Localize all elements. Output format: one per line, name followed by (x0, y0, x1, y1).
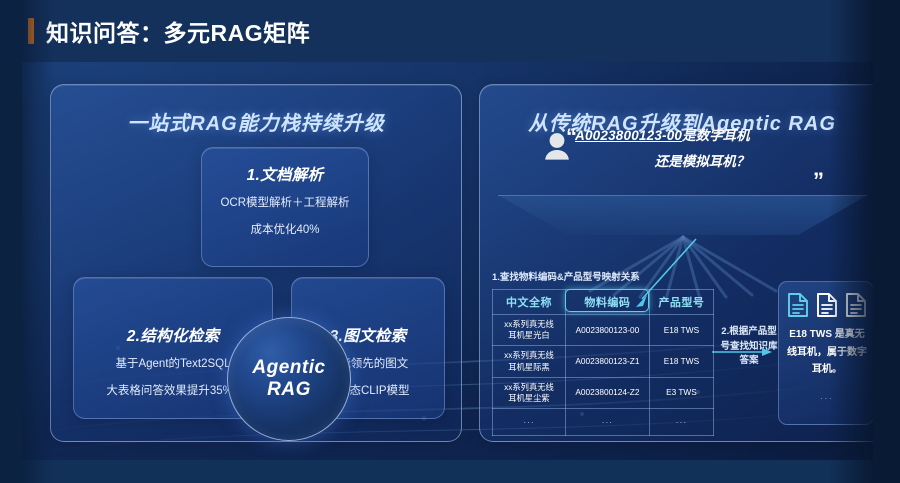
table-row: xx系列真无线耳机星光白A0023800123-00E18 TWS (493, 315, 714, 346)
agentic-rag-line2: RAG (267, 379, 311, 401)
user-question-text: A0023800123-00是数字耳机 还是模拟耳机？ (575, 123, 865, 174)
table-cell: A0023800124-Z2 (565, 377, 649, 408)
table-cell: xx系列真无线耳机星光白 (493, 315, 566, 346)
left-panel-heading: 一站式RAG能力栈持续升级 (51, 107, 461, 136)
table-cell: A0023800123-Z1 (565, 346, 649, 377)
table-cell: A0023800123-00 (565, 315, 649, 346)
table-header-product-model: 产品型号 (649, 290, 713, 315)
document-icon (816, 292, 838, 318)
table-header-chinese-name: 中文全称 (493, 290, 566, 315)
right-panel-card: 从传统RAG升级到Agentic RAG “ A0023800123-00是数字… (479, 84, 873, 442)
table-header-row: 中文全称 物料编码 产品型号 (493, 290, 714, 315)
step1-label: 1.查找物料编码&产品型号映射关系 (492, 271, 640, 286)
table-cell: E18 TWS (649, 346, 713, 377)
table-cell: xx系列真无线耳机星尘紫 (493, 377, 566, 408)
table-cell: ··· (493, 409, 566, 436)
answer-ellipsis: ··· (779, 394, 873, 403)
question-line1-rest: 是数字耳机 (682, 128, 750, 143)
table-row: ········· (493, 409, 714, 436)
document-icon (845, 292, 867, 318)
table-body: xx系列真无线耳机星光白A0023800123-00E18 TWSxx系列真无线… (493, 315, 714, 436)
table-cell: ··· (565, 409, 649, 436)
slide-root: 知识问答：多元RAG矩阵 一站式RAG能力栈持续升级 (0, 0, 900, 483)
agentic-rag-badge: Agentic RAG (227, 317, 351, 441)
document-icons-group (787, 292, 867, 318)
table-cell: xx系列真无线耳机星际黑 (493, 346, 566, 377)
card-subtitle-line2: 成本优化40% (202, 221, 368, 239)
table-header-material-code: 物料编码 (565, 290, 649, 315)
slide-stage: 一站式RAG能力栈持续升级 1.文档解析 OCR模型解析＋工程解析 成本优化40… (22, 62, 873, 460)
knowledge-answer-card[interactable]: E18 TWS 是真无线耳机，属于数字耳机。 ··· (778, 281, 873, 425)
material-mapping-table: 中文全称 物料编码 产品型号 xx系列真无线耳机星光白A0023800123-0… (492, 289, 714, 436)
left-panel-card: 一站式RAG能力栈持续升级 1.文档解析 OCR模型解析＋工程解析 成本优化40… (50, 84, 462, 442)
slide-header: 知识问答：多元RAG矩阵 (0, 0, 900, 62)
card-document-parsing[interactable]: 1.文档解析 OCR模型解析＋工程解析 成本优化40% (201, 147, 369, 267)
question-line-1: A0023800123-00是数字耳机 (575, 123, 865, 149)
card-title: 1.文档解析 (202, 163, 368, 185)
perspective-platform-decoration (498, 195, 868, 237)
table-cell: ··· (649, 409, 713, 436)
material-code-inline: A0023800123-00 (575, 128, 682, 143)
card-subtitle-line1: OCR模型解析＋工程解析 (202, 194, 368, 212)
page-title: 知识问答：多元RAG矩阵 (46, 14, 310, 48)
arrow-to-answer-icon (712, 347, 774, 357)
agentic-rag-line1: Agentic (252, 357, 325, 379)
table-cell: E3 TWS (649, 377, 713, 408)
table-row: xx系列真无线耳机星际黑A0023800123-Z1E18 TWS (493, 346, 714, 377)
table-row: xx系列真无线耳机星尘紫A0023800124-Z2E3 TWS (493, 377, 714, 408)
table-cell: E18 TWS (649, 315, 713, 346)
document-icon-active (787, 292, 809, 318)
accent-bar-icon (28, 18, 34, 44)
answer-text: E18 TWS 是真无线耳机，属于数字耳机。 (785, 326, 869, 379)
